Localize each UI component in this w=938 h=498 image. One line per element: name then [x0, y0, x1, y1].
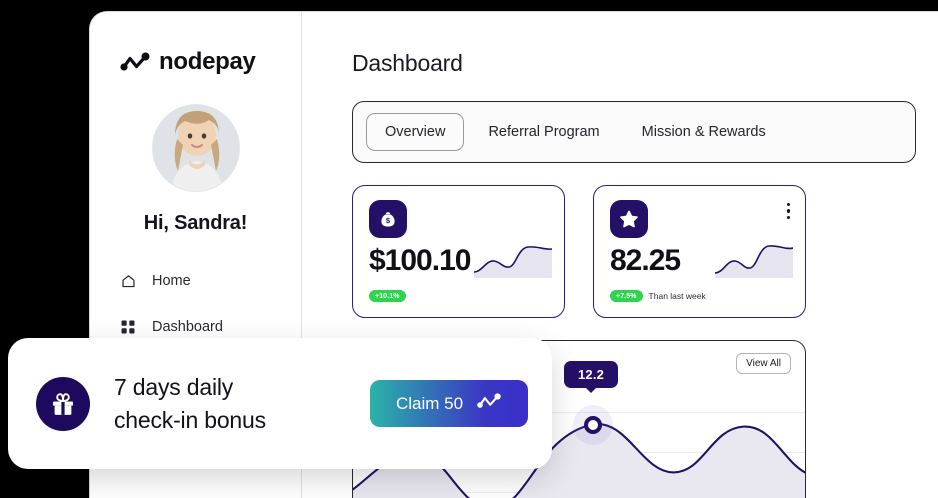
stat-card-score[interactable]: 82.25 +7.5% Than last week [593, 185, 806, 318]
greeting: Hi, Sandra! [90, 212, 301, 235]
status-badge: +7.5% [610, 290, 643, 302]
stat-value: 82.25 [610, 244, 680, 278]
sidebar-item-label: Home [152, 273, 191, 289]
avatar-wrapper [90, 104, 301, 192]
sidebar-item-label: Dashboard [152, 319, 223, 335]
avatar[interactable] [152, 104, 240, 192]
stat-card-earnings[interactable]: $ $100.10 +10.1% [352, 185, 565, 318]
stat-note: Than last week [649, 291, 706, 301]
bonus-text: 7 days daily check-in bonus [114, 371, 266, 436]
tab-label: Overview [385, 124, 445, 140]
tab-overview[interactable]: Overview [366, 113, 464, 151]
more-options-icon[interactable] [787, 203, 791, 222]
money-bag-icon: $ [369, 200, 407, 238]
view-all-button[interactable]: View All [736, 353, 791, 374]
home-icon [118, 271, 138, 291]
sparkline-chart [715, 242, 793, 278]
tab-label: Mission & Rewards [642, 124, 766, 140]
nodepay-wave-icon [476, 392, 502, 415]
star-icon [610, 200, 648, 238]
stat-footer: +7.5% Than last week [610, 290, 706, 302]
status-badge: +10.1% [369, 290, 406, 302]
stat-card-row: $ $100.10 +10.1% [352, 185, 916, 318]
sparkline-chart [474, 242, 552, 278]
gift-icon [36, 377, 90, 431]
tab-referral-program[interactable]: Referral Program [470, 113, 617, 151]
sidebar-nav: Home Dashboard [90, 263, 301, 345]
claim-button[interactable]: Claim 50 [370, 380, 528, 427]
tab-label: Referral Program [488, 124, 599, 140]
stat-value: $100.10 [369, 244, 470, 278]
chart-tooltip: 12.2 [564, 361, 618, 388]
chart-point-marker[interactable] [584, 416, 602, 434]
bonus-line-2: check-in bonus [114, 404, 266, 437]
tab-bar: Overview Referral Program Mission & Rewa… [352, 101, 916, 163]
claim-button-label: Claim 50 [396, 394, 463, 414]
sidebar-item-home[interactable]: Home [112, 263, 279, 299]
daily-checkin-bonus-card[interactable]: 7 days daily check-in bonus Claim 50 [8, 338, 552, 469]
tab-mission-rewards[interactable]: Mission & Rewards [624, 113, 784, 151]
bonus-line-1: 7 days daily [114, 371, 266, 404]
grid-icon [118, 317, 138, 337]
page-title: Dashboard [352, 50, 916, 77]
stat-footer: +10.1% [369, 290, 412, 302]
brand[interactable]: nodepay [90, 12, 301, 76]
brand-name: nodepay [159, 48, 256, 76]
nodepay-wave-icon [120, 51, 150, 73]
